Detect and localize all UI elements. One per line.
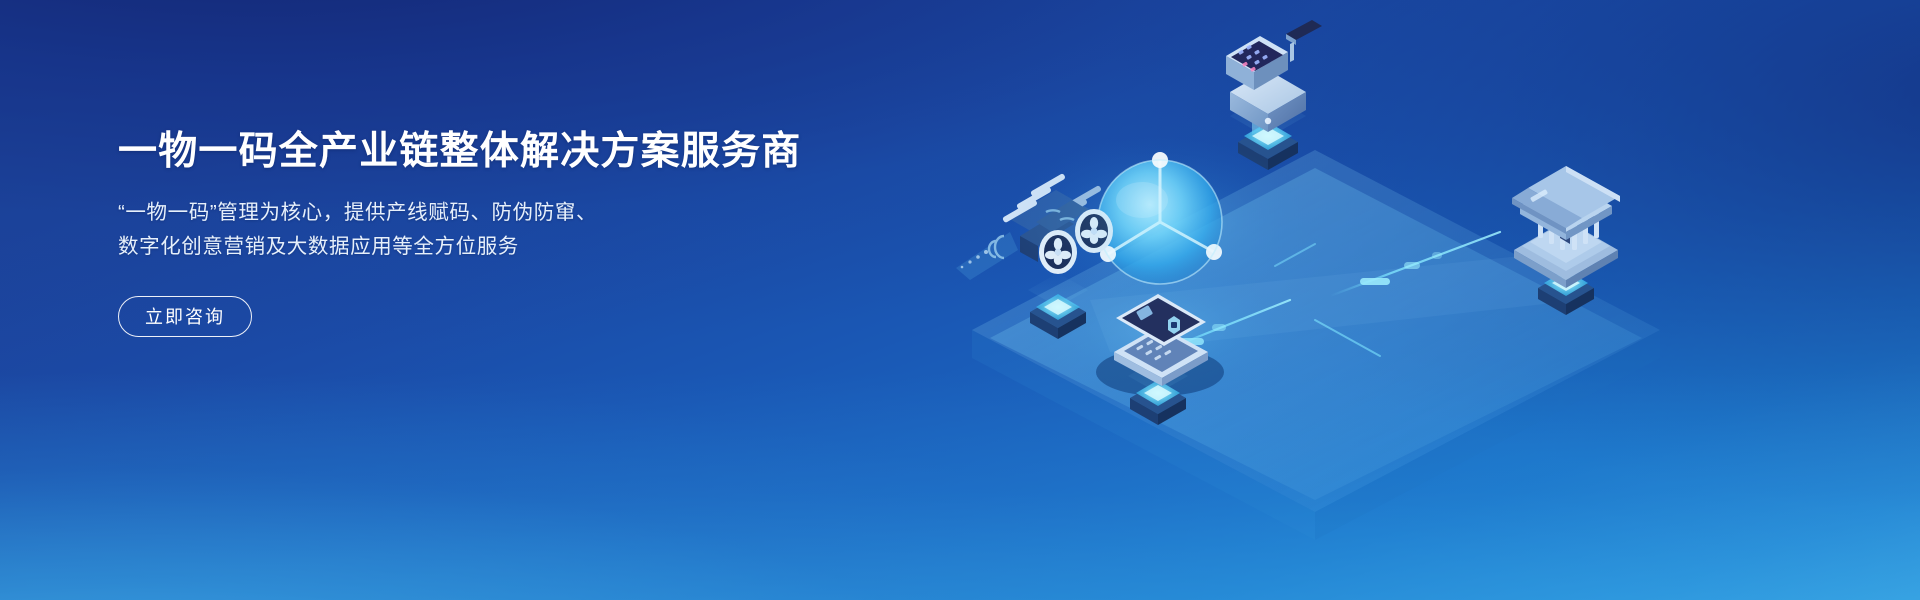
ambient-glows [1010, 136, 1310, 308]
subtitle-line-2: 数字化创意营销及大数据应用等全方位服务 [118, 230, 838, 264]
hero-illustration [860, 0, 1700, 600]
hero-subtitle: “一物一码”管理为核心，提供产线赋码、防伪防窜、 数字化创意营销及大数据应用等全… [118, 196, 838, 264]
consult-now-button[interactable]: 立即咨询 [118, 296, 252, 337]
hero-banner: 一物一码全产业链整体解决方案服务商 “一物一码”管理为核心，提供产线赋码、防伪防… [0, 0, 1920, 600]
pos-customer-display [1286, 20, 1322, 62]
bank-roof [1512, 166, 1620, 234]
server-exhaust [956, 232, 1018, 280]
hero-copy: 一物一码全产业链整体解决方案服务商 “一物一码”管理为核心，提供产线赋码、防伪防… [118, 130, 838, 337]
page-title: 一物一码全产业链整体解决方案服务商 [118, 130, 838, 175]
subtitle-line-1: “一物一码”管理为核心，提供产线赋码、防伪防窜、 [118, 196, 838, 230]
node-pos-terminal [1226, 20, 1322, 170]
